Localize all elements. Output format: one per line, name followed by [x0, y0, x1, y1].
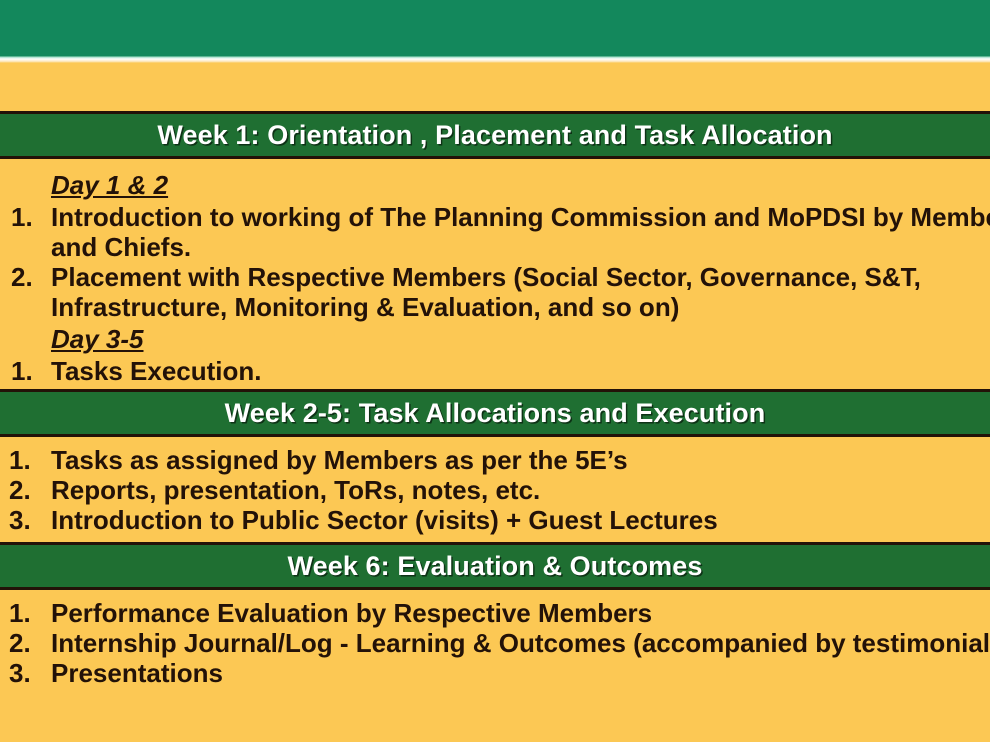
- list-item-number: 3.: [0, 658, 51, 688]
- list-item-line: and Chiefs.: [51, 232, 990, 262]
- section-header-label: Week 1: Orientation , Placement and Task…: [0, 114, 990, 156]
- list-item: 3. Introduction to Public Sector (visits…: [0, 505, 990, 535]
- section-body-week-6: 1. Performance Evaluation by Respective …: [0, 590, 990, 694]
- list-item-number: 2.: [0, 628, 51, 658]
- section-header-label: Week 6: Evaluation & Outcomes: [0, 545, 990, 587]
- list-item-number: 1.: [0, 445, 51, 475]
- list-item-text: Tasks Execution.: [51, 356, 990, 386]
- list-item-text: Tasks as assigned by Members as per the …: [51, 445, 990, 475]
- list-item: 2. Internship Journal/Log - Learning & O…: [0, 628, 990, 658]
- list-item-line: Placement with Respective Members (Socia…: [51, 262, 990, 292]
- list-item: 3. Presentations: [0, 658, 990, 688]
- list-item: 2. Placement with Respective Members (So…: [0, 262, 990, 322]
- list-item: 1. Tasks as assigned by Members as per t…: [0, 445, 990, 475]
- slide-top-decoration-band: [0, 0, 990, 56]
- list-item-text: Performance Evaluation by Respective Mem…: [51, 598, 990, 628]
- list-item-text: Reports, presentation, ToRs, notes, etc.: [51, 475, 990, 505]
- list-item-number: 1.: [0, 598, 51, 628]
- internship-schedule-table: Week 1: Orientation , Placement and Task…: [0, 111, 990, 694]
- slide-top-highlight-gap: [0, 59, 990, 63]
- section-header-label: Week 2-5: Task Allocations and Execution: [0, 392, 990, 434]
- section-body-week-2-5: 1. Tasks as assigned by Members as per t…: [0, 437, 990, 542]
- list-item: 1. Performance Evaluation by Respective …: [0, 598, 990, 628]
- section-header-week-1: Week 1: Orientation , Placement and Task…: [0, 111, 990, 159]
- list-item-number: 1.: [0, 202, 51, 232]
- list-item-line: Introduction to working of The Planning …: [51, 202, 990, 232]
- section-body-week-1: Day 1 & 2 1. Introduction to working of …: [0, 159, 990, 389]
- day-label-day-1-2-wrapper: Day 1 & 2: [0, 168, 990, 202]
- day-label-day-1-2: Day 1 & 2: [51, 168, 168, 202]
- list-item-text: Internship Journal/Log - Learning & Outc…: [51, 628, 990, 658]
- day-label-day-3-5: Day 3-5: [51, 322, 144, 356]
- list-item-number: 3.: [0, 505, 51, 535]
- list-item-text: Placement with Respective Members (Socia…: [51, 262, 990, 322]
- list-item-line: Infrastructure, Monitoring & Evaluation,…: [51, 292, 990, 322]
- list-item-number: 2.: [0, 262, 51, 292]
- day-label-day-3-5-wrapper: Day 3-5: [0, 322, 990, 356]
- section-header-week-2-5: Week 2-5: Task Allocations and Execution: [0, 389, 990, 437]
- section-header-week-6: Week 6: Evaluation & Outcomes: [0, 542, 990, 590]
- list-item-number: 1.: [0, 356, 51, 386]
- list-item: 1. Tasks Execution.: [0, 356, 990, 386]
- list-item: 1. Introduction to working of The Planni…: [0, 202, 990, 262]
- list-item-text: Introduction to Public Sector (visits) +…: [51, 505, 990, 535]
- list-item-number: 2.: [0, 475, 51, 505]
- list-item-text: Presentations: [51, 658, 990, 688]
- list-item-text: Introduction to working of The Planning …: [51, 202, 990, 262]
- list-item: 2. Reports, presentation, ToRs, notes, e…: [0, 475, 990, 505]
